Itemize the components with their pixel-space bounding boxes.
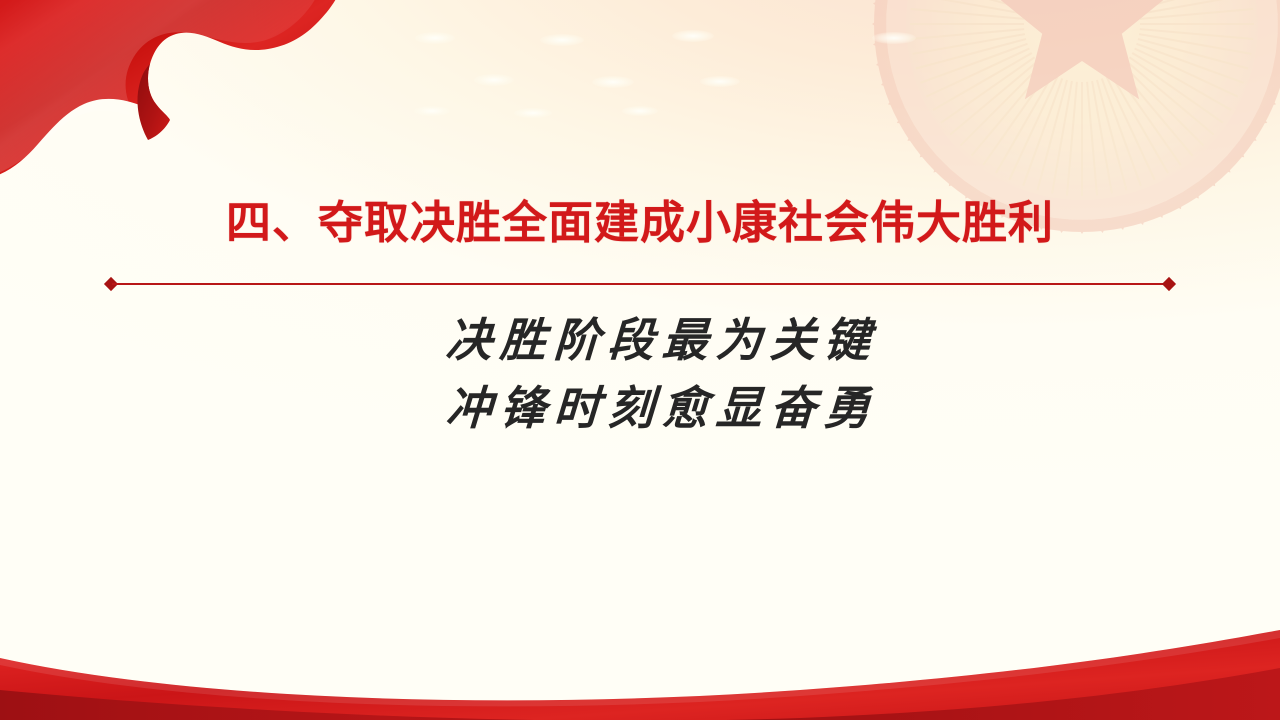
body-line-1: 决胜阶段最为关键	[444, 306, 1068, 374]
page-title: 四、夺取决胜全面建成小康社会伟大胜利	[0, 198, 1280, 248]
presentation-slide: 四、夺取决胜全面建成小康社会伟大胜利 决胜阶段最为关键 冲锋时刻愈显奋勇	[0, 0, 1280, 720]
red-ribbon-wave	[0, 610, 1280, 720]
title-divider-rule	[104, 276, 1176, 292]
body-line-2: 冲锋时刻愈显奋勇	[444, 374, 1068, 442]
divider-diamond-right-icon	[1162, 277, 1176, 291]
divider-line	[112, 283, 1168, 285]
calligraphy-body: 决胜阶段最为关键 冲锋时刻愈显奋勇	[446, 306, 1066, 442]
